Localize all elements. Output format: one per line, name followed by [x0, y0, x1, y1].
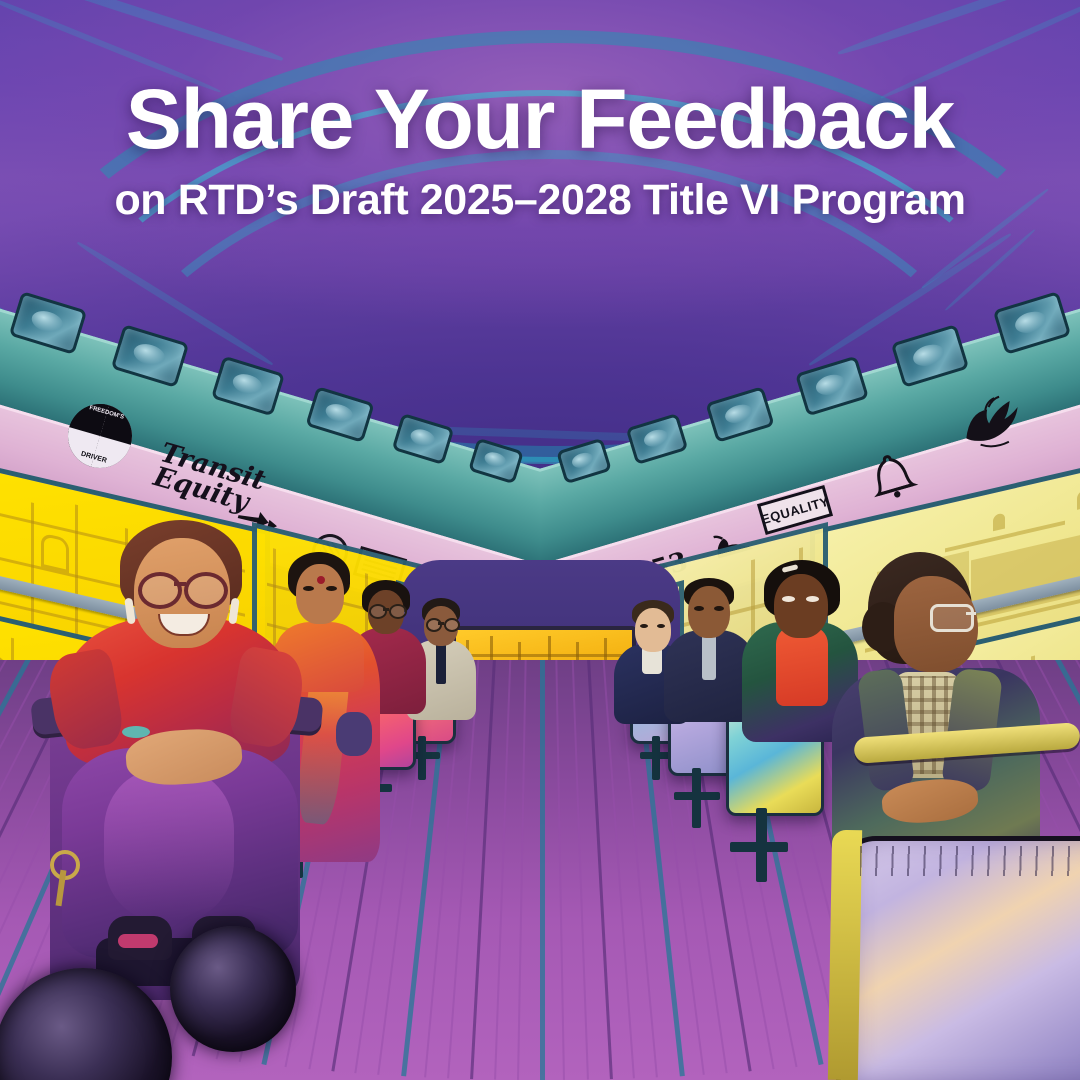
passenger-glasses-bridge — [174, 582, 186, 586]
page-title: Share Your Feedback — [0, 78, 1080, 160]
passenger-eye — [694, 606, 704, 611]
foreground-seat-edge — [828, 830, 862, 1080]
floor-rib — [563, 660, 589, 1080]
passenger-turtleneck — [776, 626, 828, 706]
passenger-glasses — [138, 572, 182, 609]
page-subtitle: on RTD’s Draft 2025–2028 Title VI Progra… — [0, 176, 1080, 225]
passenger-glasses — [444, 618, 460, 632]
poster-canvas: FREEDOM’S DRIVER Transit Equity — [0, 0, 1080, 1080]
seat-leg-bar — [730, 842, 788, 852]
passenger-eye — [806, 596, 819, 602]
foreground-seat-shadow-strokes — [860, 846, 1070, 876]
passenger-glasses-bridge — [966, 612, 976, 615]
passenger-right-foreground — [838, 552, 1038, 882]
passenger-eye — [714, 606, 724, 611]
passenger-glasses — [389, 604, 407, 619]
passenger-head — [774, 574, 828, 638]
floor-rib — [494, 660, 520, 1080]
passenger-tie — [702, 634, 716, 680]
passenger-head — [688, 586, 730, 638]
floor-rib — [551, 660, 565, 1080]
floor-rib — [540, 660, 545, 1080]
shoe-accent — [118, 934, 158, 948]
passenger-tie — [436, 644, 446, 684]
wheelchair-front-wheel — [170, 926, 296, 1052]
passenger-eye — [782, 596, 795, 602]
seat-leg-bar — [674, 792, 720, 800]
passenger-eye — [640, 624, 648, 628]
passenger-glasses-bridge — [438, 622, 444, 625]
floor-rib — [0, 660, 4, 870]
passenger-glasses-bridge — [383, 608, 389, 611]
passenger-bracelet — [122, 726, 150, 738]
passenger-lap-highlight — [104, 770, 234, 920]
floor-rib — [517, 660, 531, 1080]
passenger-glasses — [930, 604, 974, 632]
passenger-glasses — [184, 572, 228, 609]
